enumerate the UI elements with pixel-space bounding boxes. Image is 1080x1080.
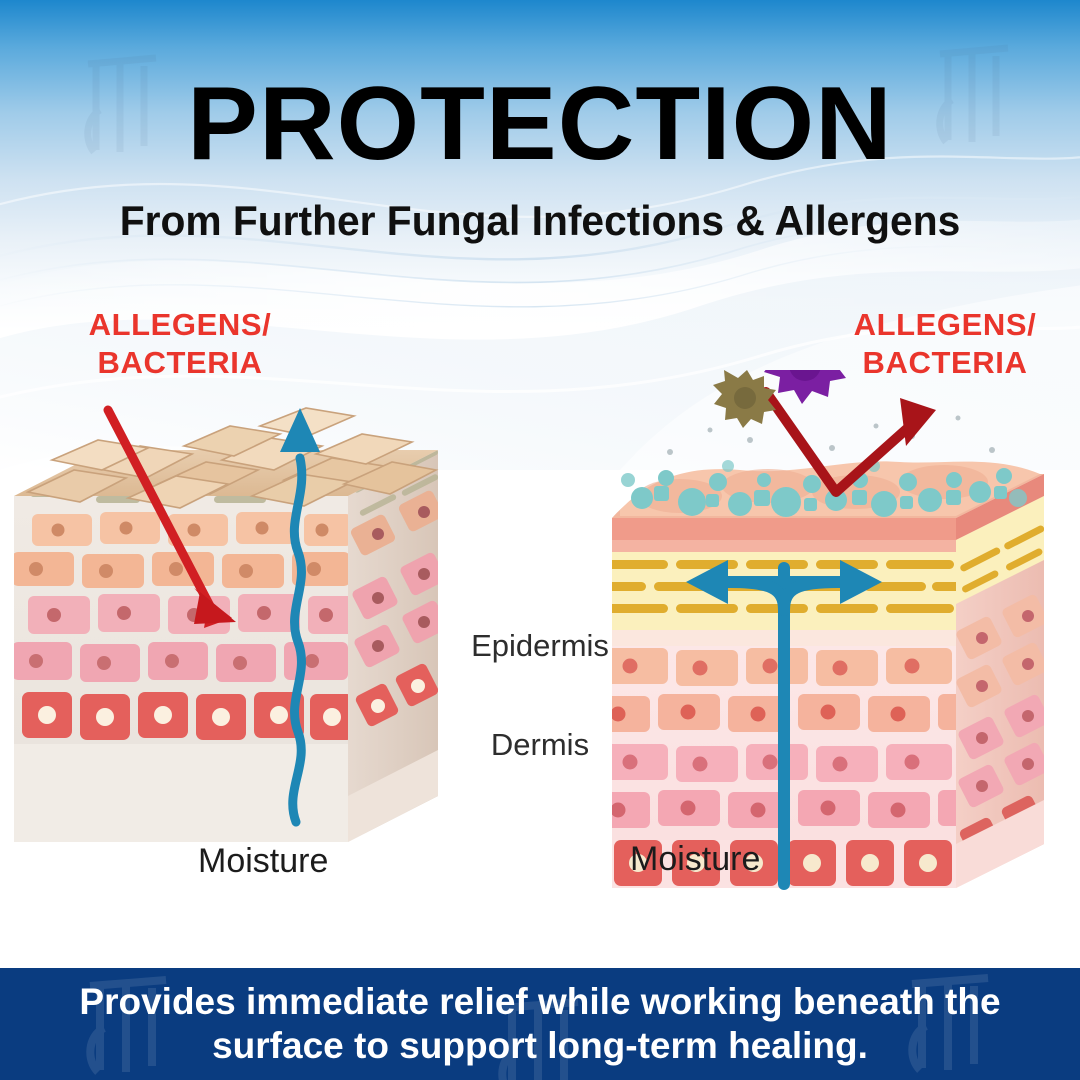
skin-diagram-damaged [8, 392, 468, 912]
page-title: PROTECTION [0, 72, 1080, 176]
moisture-specks-right [667, 416, 995, 456]
skin-diagram-protected [600, 370, 1070, 915]
label-epidermis: Epidermis [425, 628, 655, 664]
bacteria-icon-olive [713, 370, 776, 428]
footer-message: Provides immediate relief while working … [0, 968, 1080, 1080]
page-subtitle: From Further Fungal Infections & Allerge… [16, 197, 1064, 244]
moisture-label-right: Moisture [630, 840, 760, 879]
infographic-canvas: PROTECTION From Further Fungal Infection… [0, 0, 1080, 1080]
moisture-label-left: Moisture [198, 842, 328, 881]
footer-banner: Provides immediate relief while working … [0, 968, 1080, 1080]
label-dermis: Dermis [425, 727, 655, 763]
allergens-label-left: ALLEGENS/ BACTERIA [65, 306, 295, 382]
